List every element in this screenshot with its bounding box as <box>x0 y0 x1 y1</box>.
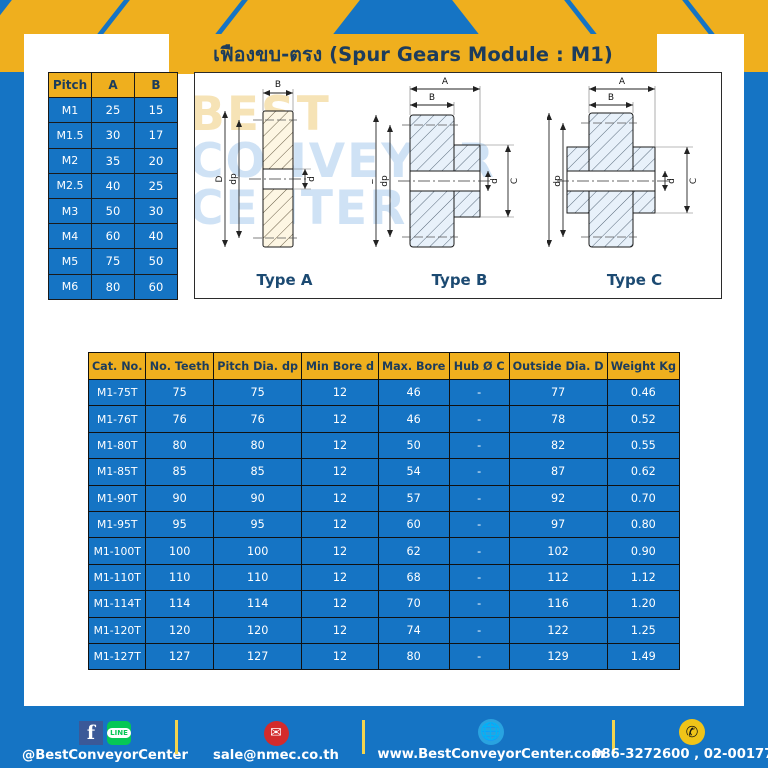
spec-header-max-bore: Max. Bore <box>378 353 449 380</box>
cell-hub-c: - <box>449 643 509 669</box>
cell-weight: 0.90 <box>607 538 679 564</box>
pitch-cell-b: 17 <box>135 123 178 148</box>
spec-header-pitch-dia: Pitch Dia. dp <box>213 353 302 380</box>
pitch-cell-a: 60 <box>92 224 135 249</box>
footer-social-text: @BestConveyorCenter <box>22 748 188 763</box>
footer-phone-text: 086-3272600 , 02-0017766 <box>592 747 768 762</box>
cell-max-bore: 54 <box>378 459 449 485</box>
cell-hub-c: - <box>449 380 509 406</box>
content-card: เฟืองขบ-ตรง (Spur Gears Module : M1) Pit… <box>24 34 744 706</box>
cell-max-bore: 46 <box>378 380 449 406</box>
phone-icon[interactable]: ✆ <box>679 719 705 745</box>
spec-table-header-row: Cat. No. No. Teeth Pitch Dia. dp Min Bor… <box>89 353 680 380</box>
pitch-cell-b: 25 <box>135 173 178 198</box>
cell-max-bore: 80 <box>378 643 449 669</box>
cell-pitch-dia: 127 <box>213 643 302 669</box>
cell-min-bore: 12 <box>302 406 378 432</box>
dim-label-b: B <box>608 93 614 103</box>
cell-hub-c: - <box>449 406 509 432</box>
dim-label-hub-c: C <box>689 178 699 184</box>
cell-no-teeth: 90 <box>146 485 213 511</box>
cell-no-teeth: 120 <box>146 617 213 643</box>
spec-header-no-teeth: No. Teeth <box>146 353 213 380</box>
pitch-table-header-row: Pitch A B <box>49 73 178 98</box>
cell-cat-no: M1-120T <box>89 617 146 643</box>
cell-pitch-dia: 75 <box>213 380 302 406</box>
dim-label-d-outside: D <box>215 175 225 182</box>
table-row: M1-75T75751246-770.46 <box>89 380 680 406</box>
cell-outside-dia: 112 <box>509 564 607 590</box>
cell-hub-c: - <box>449 485 509 511</box>
cell-pitch-dia: 95 <box>213 511 302 537</box>
cell-weight: 0.52 <box>607 406 679 432</box>
cell-max-bore: 68 <box>378 564 449 590</box>
cell-pitch-dia: 120 <box>213 617 302 643</box>
cell-no-teeth: 75 <box>146 380 213 406</box>
cell-cat-no: M1-90T <box>89 485 146 511</box>
pitch-cell-name: M1 <box>49 98 92 123</box>
pitch-cell-name: M3 <box>49 198 92 223</box>
table-row: M12515 <box>49 98 178 123</box>
cell-outside-dia: 92 <box>509 485 607 511</box>
spec-header-weight: Weight Kg <box>607 353 679 380</box>
cell-weight: 1.20 <box>607 591 679 617</box>
pitch-cell-b: 30 <box>135 198 178 223</box>
page-title-banner: เฟืองขบ-ตรง (Spur Gears Module : M1) <box>169 34 657 74</box>
cell-pitch-dia: 114 <box>213 591 302 617</box>
cell-min-bore: 12 <box>302 591 378 617</box>
pitch-header-b: B <box>135 73 178 98</box>
cell-outside-dia: 82 <box>509 432 607 458</box>
cell-hub-c: - <box>449 459 509 485</box>
cell-pitch-dia: 85 <box>213 459 302 485</box>
cell-weight: 0.55 <box>607 432 679 458</box>
cell-cat-no: M1-114T <box>89 591 146 617</box>
cell-no-teeth: 76 <box>146 406 213 432</box>
cell-hub-c: - <box>449 538 509 564</box>
table-row: M1.53017 <box>49 123 178 148</box>
cell-min-bore: 12 <box>302 459 378 485</box>
table-row: M1-80T80801250-820.55 <box>89 432 680 458</box>
cell-min-bore: 12 <box>302 564 378 590</box>
table-row: M2.54025 <box>49 173 178 198</box>
pitch-cell-b: 50 <box>135 249 178 274</box>
cell-hub-c: - <box>449 511 509 537</box>
pitch-cell-a: 30 <box>92 123 135 148</box>
dim-label-bore: d <box>667 178 677 184</box>
spec-header-hub-c: Hub Ø C <box>449 353 509 380</box>
contact-footer: f LINE @BestConveyorCenter ✉ sale@nmec.c… <box>0 706 768 768</box>
pitch-cell-name: M1.5 <box>49 123 92 148</box>
gear-diagram-panel: BEST CONVEYOR CENTER <box>194 72 722 299</box>
cell-cat-no: M1-100T <box>89 538 146 564</box>
footer-website[interactable]: 🌐 www.BestConveyorCenter.com <box>372 719 610 762</box>
cell-max-bore: 62 <box>378 538 449 564</box>
cell-hub-c: - <box>449 564 509 590</box>
cell-max-bore: 50 <box>378 432 449 458</box>
gear-diagram-type-c: A B D dp d C <box>547 75 722 271</box>
cell-no-teeth: 95 <box>146 511 213 537</box>
dim-label-d-outside: D <box>372 177 376 184</box>
dim-label-bore: d <box>490 178 500 184</box>
table-row: M23520 <box>49 148 178 173</box>
cell-hub-c: - <box>449 617 509 643</box>
footer-email-text: sale@nmec.co.th <box>213 748 339 763</box>
spec-table-wrapper: Cat. No. No. Teeth Pitch Dia. dp Min Bor… <box>88 352 680 670</box>
upper-section: Pitch A B M12515 M1.53017 M23520 M2.5402… <box>48 72 720 298</box>
gear-diagram-type-b: A B D dp d C <box>372 75 547 271</box>
pitch-cell-b: 40 <box>135 224 178 249</box>
table-row: M1-85T85851254-870.62 <box>89 459 680 485</box>
cell-min-bore: 12 <box>302 511 378 537</box>
cell-pitch-dia: 110 <box>213 564 302 590</box>
dim-label-dp: dp <box>229 173 239 185</box>
cell-no-teeth: 110 <box>146 564 213 590</box>
table-row: M35030 <box>49 198 178 223</box>
cell-max-bore: 46 <box>378 406 449 432</box>
cell-outside-dia: 87 <box>509 459 607 485</box>
pitch-table: Pitch A B M12515 M1.53017 M23520 M2.5402… <box>48 72 178 300</box>
cell-weight: 0.62 <box>607 459 679 485</box>
pitch-cell-a: 75 <box>92 249 135 274</box>
cell-no-teeth: 80 <box>146 432 213 458</box>
cell-min-bore: 12 <box>302 485 378 511</box>
table-row: M1-95T95951260-970.80 <box>89 511 680 537</box>
spec-header-outside-dia: Outside Dia. D <box>509 353 607 380</box>
cell-outside-dia: 122 <box>509 617 607 643</box>
cell-min-bore: 12 <box>302 643 378 669</box>
pitch-cell-a: 25 <box>92 98 135 123</box>
dim-label-dp: dp <box>380 175 390 187</box>
cell-weight: 0.46 <box>607 380 679 406</box>
spec-header-min-bore: Min Bore d <box>302 353 378 380</box>
pitch-cell-a: 40 <box>92 173 135 198</box>
footer-divider <box>175 720 178 754</box>
cell-max-bore: 57 <box>378 485 449 511</box>
globe-icon[interactable]: 🌐 <box>478 719 504 745</box>
dim-label-bore: d <box>307 176 317 182</box>
cell-no-teeth: 127 <box>146 643 213 669</box>
pitch-cell-a: 50 <box>92 198 135 223</box>
pitch-cell-name: M5 <box>49 249 92 274</box>
cell-pitch-dia: 90 <box>213 485 302 511</box>
cell-hub-c: - <box>449 432 509 458</box>
table-row: M46040 <box>49 224 178 249</box>
pitch-header-pitch: Pitch <box>49 73 92 98</box>
line-icon-label: LINE <box>107 728 131 738</box>
cell-pitch-dia: 80 <box>213 432 302 458</box>
cell-max-bore: 70 <box>378 591 449 617</box>
cell-min-bore: 12 <box>302 617 378 643</box>
table-row: M1-76T76761246-780.52 <box>89 406 680 432</box>
table-row: M1-90T90901257-920.70 <box>89 485 680 511</box>
cell-pitch-dia: 100 <box>213 538 302 564</box>
pitch-cell-a: 35 <box>92 148 135 173</box>
cell-cat-no: M1-85T <box>89 459 146 485</box>
cell-cat-no: M1-80T <box>89 432 146 458</box>
cell-max-bore: 60 <box>378 511 449 537</box>
footer-phone[interactable]: ✆ 086-3272600 , 02-0017766 <box>622 719 762 762</box>
cell-weight: 0.80 <box>607 511 679 537</box>
cell-pitch-dia: 76 <box>213 406 302 432</box>
table-row: M1-114T1141141270-1161.20 <box>89 591 680 617</box>
footer-divider <box>362 720 365 754</box>
cell-min-bore: 12 <box>302 380 378 406</box>
pitch-cell-b: 15 <box>135 98 178 123</box>
table-row: M1-127T1271271280-1291.49 <box>89 643 680 669</box>
pitch-cell-name: M4 <box>49 224 92 249</box>
cell-weight: 1.12 <box>607 564 679 590</box>
table-row: M1-110T1101101268-1121.12 <box>89 564 680 590</box>
cell-cat-no: M1-75T <box>89 380 146 406</box>
spec-table-body: M1-75T75751246-770.46 M1-76T76761246-780… <box>89 380 680 670</box>
dim-label-hub-c: C <box>510 178 520 184</box>
pitch-cell-a: 80 <box>92 274 135 299</box>
type-c-label: Type C <box>547 271 722 289</box>
dim-label-d-outside: D <box>547 177 549 184</box>
cell-hub-c: - <box>449 591 509 617</box>
gear-diagram-type-a: B D dp d <box>197 75 372 271</box>
specification-table: Cat. No. No. Teeth Pitch Dia. dp Min Bor… <box>88 352 680 670</box>
pitch-cell-b: 60 <box>135 274 178 299</box>
cell-no-teeth: 100 <box>146 538 213 564</box>
type-a-label: Type A <box>197 271 372 289</box>
dim-label-a: A <box>442 77 449 87</box>
cell-weight: 1.49 <box>607 643 679 669</box>
footer-email[interactable]: ✉ sale@nmec.co.th <box>196 720 356 763</box>
cell-min-bore: 12 <box>302 538 378 564</box>
table-row: M1-100T1001001262-1020.90 <box>89 538 680 564</box>
spec-header-cat-no: Cat. No. <box>89 353 146 380</box>
cell-cat-no: M1-95T <box>89 511 146 537</box>
dim-label-b: B <box>429 93 435 103</box>
cell-outside-dia: 116 <box>509 591 607 617</box>
dim-label-b: B <box>275 80 281 90</box>
footer-website-text: www.BestConveyorCenter.com <box>377 747 604 762</box>
pitch-cell-name: M2.5 <box>49 173 92 198</box>
table-row: M1-120T1201201274-1221.25 <box>89 617 680 643</box>
cell-outside-dia: 77 <box>509 380 607 406</box>
pitch-cell-b: 20 <box>135 148 178 173</box>
dim-label-dp: dp <box>553 175 563 187</box>
page-title: เฟืองขบ-ตรง (Spur Gears Module : M1) <box>213 39 613 70</box>
cell-cat-no: M1-110T <box>89 564 146 590</box>
pitch-cell-name: M6 <box>49 274 92 299</box>
poster-page: เฟืองขบ-ตรง (Spur Gears Module : M1) Pit… <box>0 0 768 768</box>
type-b-label: Type B <box>372 271 547 289</box>
line-icon[interactable]: LINE <box>107 721 131 745</box>
cell-no-teeth: 114 <box>146 591 213 617</box>
pitch-header-a: A <box>92 73 135 98</box>
cell-outside-dia: 78 <box>509 406 607 432</box>
pitch-cell-name: M2 <box>49 148 92 173</box>
envelope-icon[interactable]: ✉ <box>264 721 289 746</box>
footer-social[interactable]: f LINE @BestConveyorCenter <box>10 720 200 763</box>
table-row: M57550 <box>49 249 178 274</box>
table-row: M68060 <box>49 274 178 299</box>
cell-no-teeth: 85 <box>146 459 213 485</box>
cell-cat-no: M1-127T <box>89 643 146 669</box>
facebook-icon[interactable]: f <box>79 721 103 745</box>
cell-outside-dia: 97 <box>509 511 607 537</box>
cell-outside-dia: 129 <box>509 643 607 669</box>
cell-weight: 0.70 <box>607 485 679 511</box>
cell-min-bore: 12 <box>302 432 378 458</box>
cell-max-bore: 74 <box>378 617 449 643</box>
cell-outside-dia: 102 <box>509 538 607 564</box>
cell-cat-no: M1-76T <box>89 406 146 432</box>
dim-label-a: A <box>619 77 626 87</box>
cell-weight: 1.25 <box>607 617 679 643</box>
